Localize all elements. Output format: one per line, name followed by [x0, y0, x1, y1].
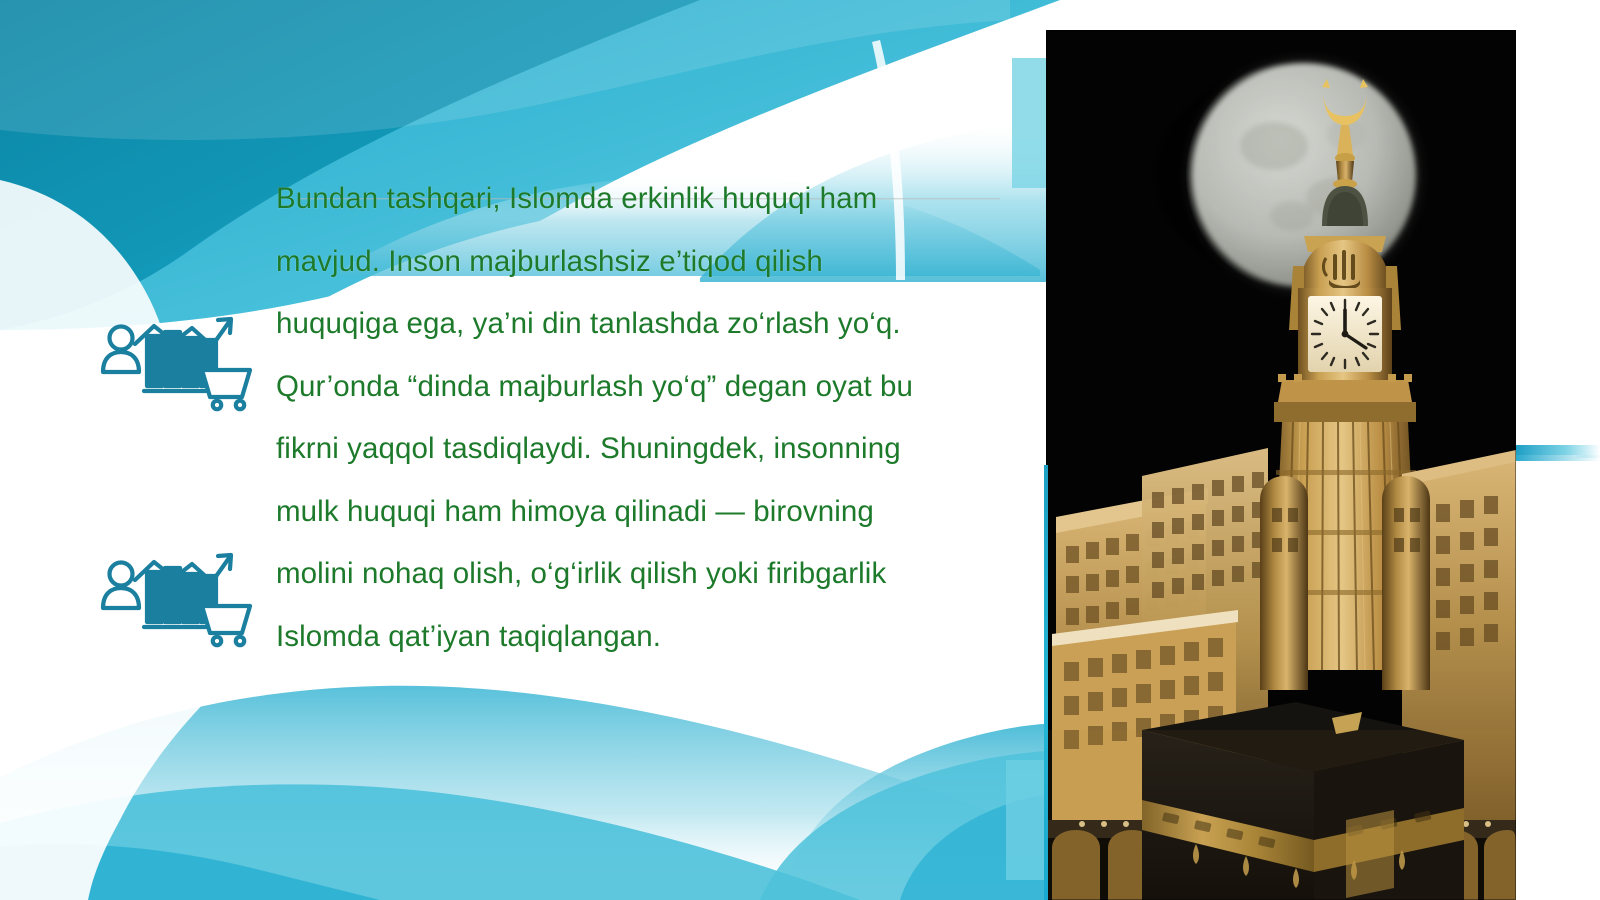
- body-paragraph: Bundan tashqari, Islomda erkinlik huquqi…: [276, 168, 936, 668]
- makkah-clock-tower-kaaba-night-photo: [1046, 30, 1516, 900]
- slide-content: Bundan tashqari, Islomda erkinlik huquqi…: [0, 0, 1040, 900]
- right-edge-blue-sliver-secondary: [1516, 455, 1600, 461]
- business-growth-cart-icon: [98, 538, 263, 648]
- presentation-slide: Bundan tashqari, Islomda erkinlik huquqi…: [0, 0, 1600, 900]
- business-growth-cart-icon: [98, 302, 263, 412]
- photo-left-accent-rule: [1044, 465, 1048, 900]
